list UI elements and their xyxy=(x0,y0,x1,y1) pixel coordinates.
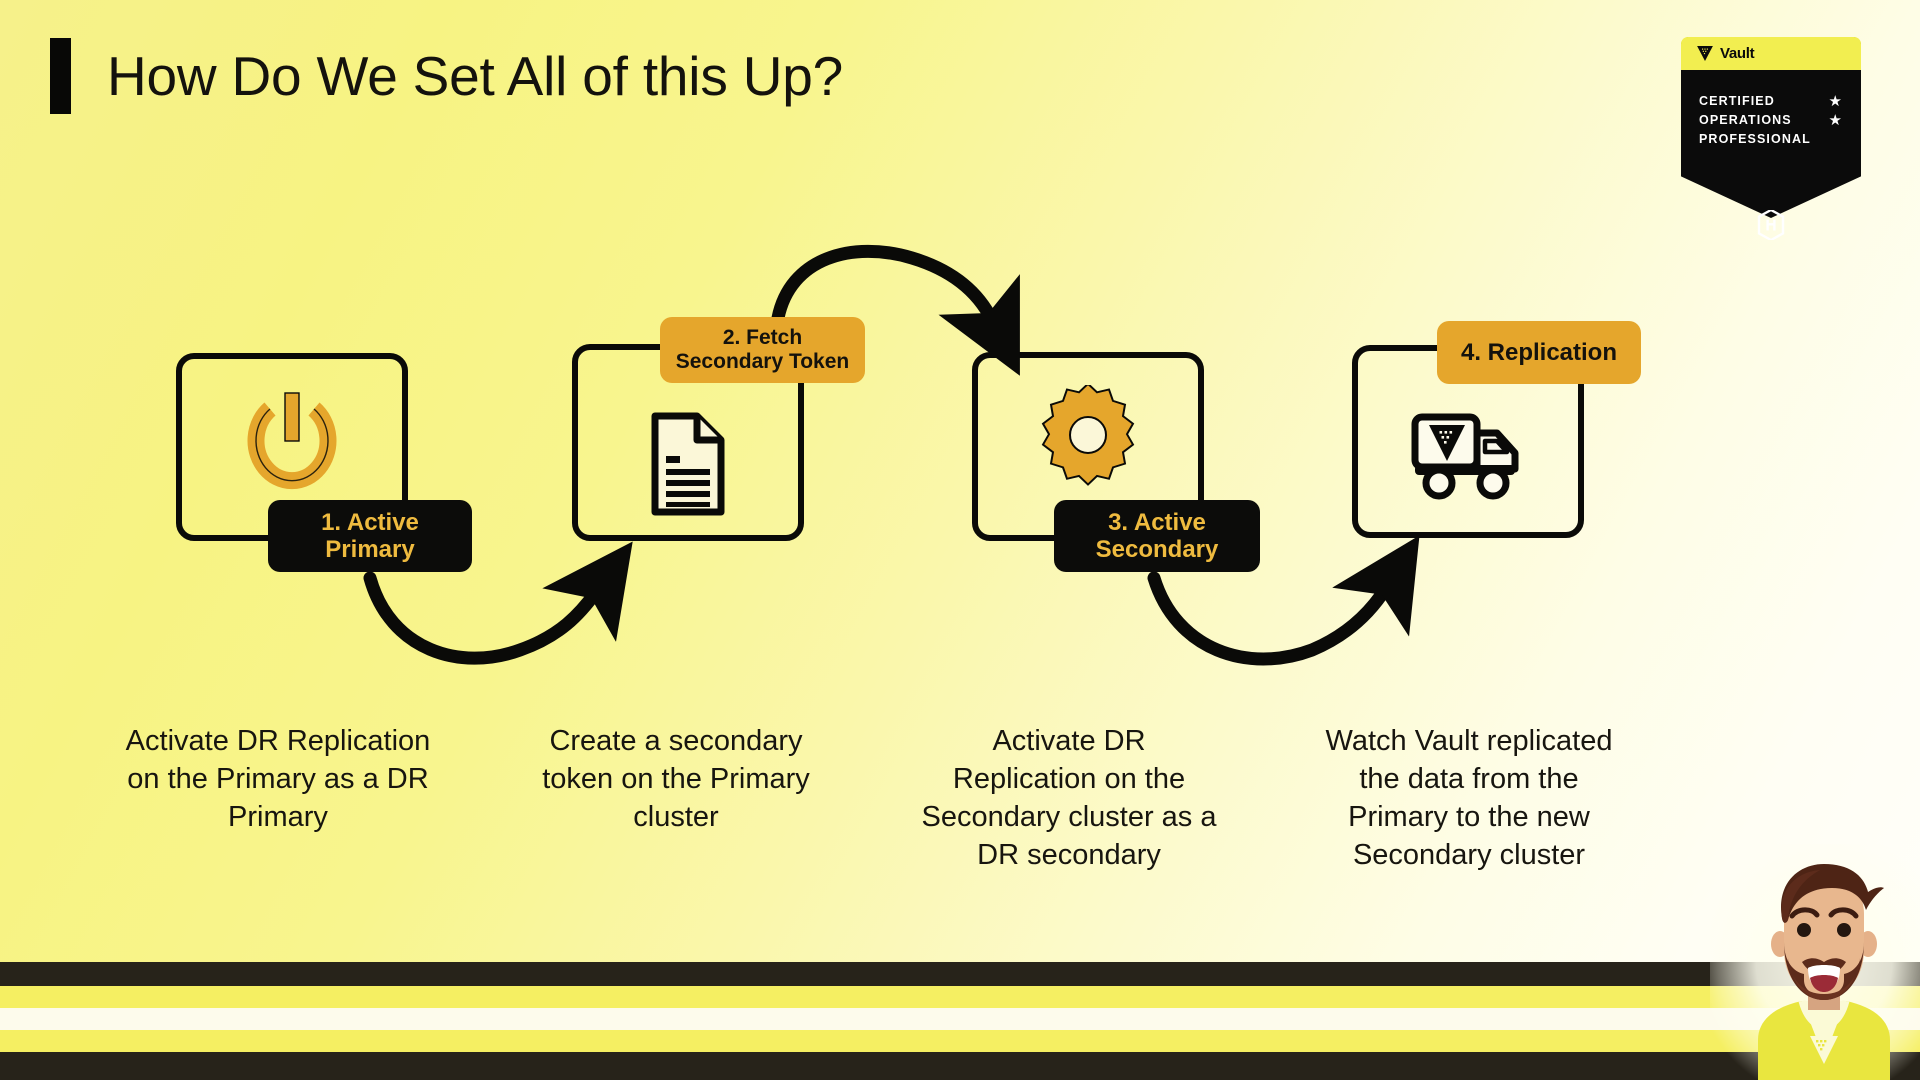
step-label-1-line2: Primary xyxy=(321,536,419,563)
certification-badge: Vault CERTIFIED OPERATIONS PROFESSIONAL … xyxy=(1681,37,1861,218)
badge-header: Vault xyxy=(1681,37,1861,70)
slide-canvas: How Do We Set All of this Up? Vault CERT… xyxy=(0,0,1920,1080)
step-description-2: Create a secondary token on the Primary … xyxy=(510,722,842,836)
badge-line-professional: PROFESSIONAL xyxy=(1699,130,1811,149)
badge-line-certified: CERTIFIED xyxy=(1699,92,1811,111)
power-button-icon xyxy=(244,387,340,495)
gear-icon xyxy=(1036,385,1140,489)
slide-title-row: How Do We Set All of this Up? xyxy=(50,30,843,122)
arrow-step3-to-step4 xyxy=(1154,578,1386,659)
step-label-3-line1: 3. Active xyxy=(1096,509,1219,536)
step-label-2[interactable]: 2. Fetch Secondary Token xyxy=(660,317,865,383)
step-description-3: Activate DR Replication on the Secondary… xyxy=(918,722,1220,874)
step-label-2-line1: 2. Fetch xyxy=(676,326,850,350)
step-description-1: Activate DR Replication on the Primary a… xyxy=(118,722,438,836)
avatar-illustration xyxy=(1728,858,1920,1080)
footer-bar-cream xyxy=(0,1008,1920,1030)
footer-bar-yellow-upper xyxy=(0,986,1920,1008)
badge-certification-text: CERTIFIED OPERATIONS PROFESSIONAL xyxy=(1699,92,1811,149)
footer-bar-yellow-lower xyxy=(0,1030,1920,1052)
step-label-1-line1: 1. Active xyxy=(321,509,419,536)
step-label-3[interactable]: 3. Active Secondary xyxy=(1054,500,1260,572)
step-label-1[interactable]: 1. Active Primary xyxy=(268,500,472,572)
hashicorp-logo-icon xyxy=(1757,210,1785,240)
badge-brand-name: Vault xyxy=(1720,45,1754,62)
step-label-4[interactable]: 4. Replication xyxy=(1437,321,1641,384)
page-title: How Do We Set All of this Up? xyxy=(107,49,843,104)
footer-bar-dark-bottom xyxy=(0,1052,1920,1080)
document-icon xyxy=(647,412,729,516)
footer-bar-dark-top xyxy=(0,962,1920,986)
badge-star-rating: ★ ★ xyxy=(1829,92,1842,130)
step-label-2-line2: Secondary Token xyxy=(676,350,850,374)
title-accent-bar xyxy=(50,38,71,114)
step-label-3-line2: Secondary xyxy=(1096,536,1219,563)
step-label-4-line1: 4. Replication xyxy=(1461,339,1617,366)
delivery-truck-icon xyxy=(1409,407,1527,503)
step-description-4: Watch Vault replicated the data from the… xyxy=(1318,722,1620,874)
presenter-avatar xyxy=(1728,858,1920,1080)
star-icon: ★ xyxy=(1829,111,1842,130)
star-icon: ★ xyxy=(1829,92,1842,111)
badge-line-operations: OPERATIONS xyxy=(1699,111,1811,130)
arrow-step1-to-step2 xyxy=(370,578,596,658)
vault-logo-icon xyxy=(1697,46,1713,61)
arrow-step2-to-step3 xyxy=(778,251,992,320)
